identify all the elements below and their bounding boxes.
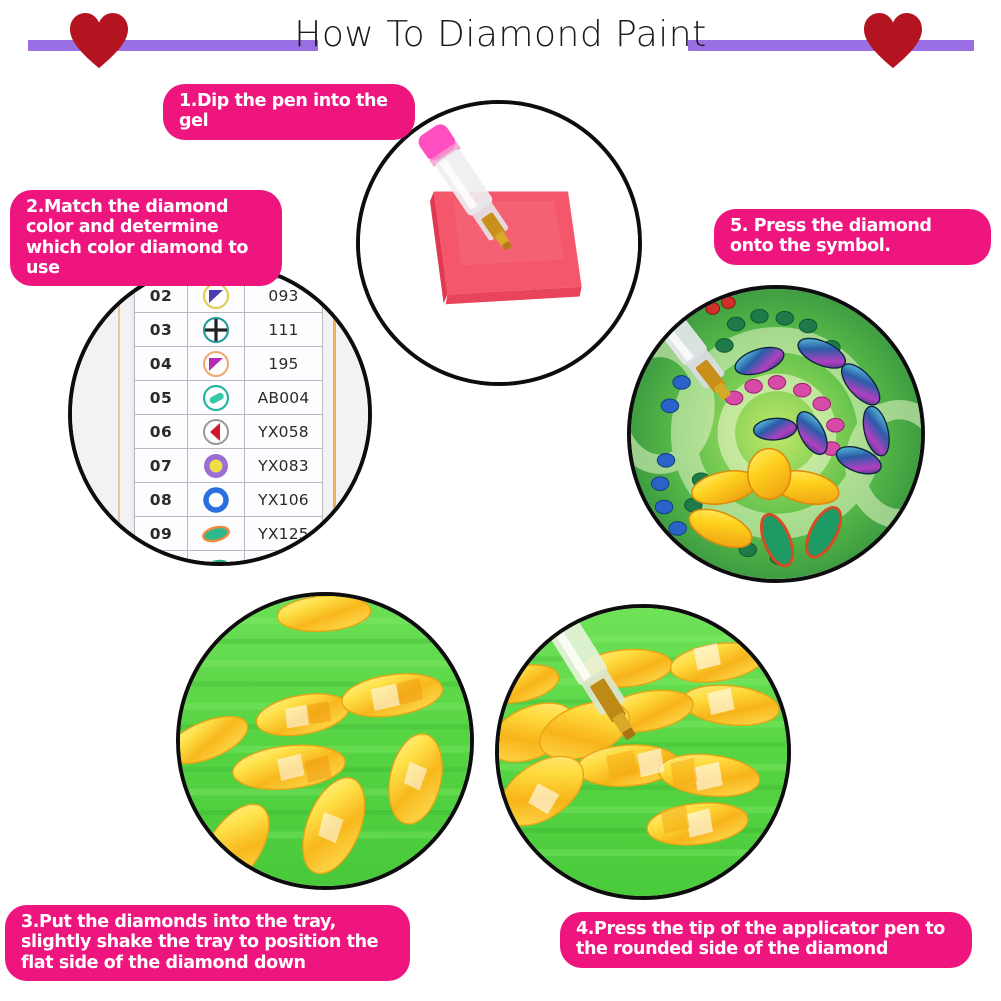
color-code-number: 08	[135, 483, 188, 517]
header: How To Diamond Paint	[0, 0, 1001, 78]
infographic-page: How To Diamond Paint 1.Dip the pen into …	[0, 0, 1001, 1001]
color-code-value: AB004	[245, 381, 323, 415]
color-code-row: 06YX058	[135, 415, 323, 449]
step-label-2: 2.Match the diamond color and determine …	[10, 190, 282, 286]
page-title: How To Diamond Paint	[0, 14, 1001, 55]
color-code-value: YX125	[245, 517, 323, 551]
step-label-1: 1.Dip the pen into the gel	[163, 84, 415, 140]
color-code-value: YX106	[245, 483, 323, 517]
color-code-row: 03111	[135, 313, 323, 347]
color-code-table: 0102802093031110419505AB00406YX05807YX08…	[134, 262, 323, 566]
photo-pen-dipping-into-gel	[356, 100, 642, 386]
step-label-4: 4.Press the tip of the applicator pen to…	[560, 912, 972, 968]
capsule-slash-icon	[188, 381, 245, 415]
step-label-5: 5. Press the diamond onto the symbol.	[714, 209, 991, 265]
leaf-filled-icon	[188, 517, 245, 551]
chart-paper: 0102802093031110419505AB00406YX05807YX08…	[134, 262, 319, 566]
color-code-number: 10	[135, 551, 188, 567]
color-code-number: 03	[135, 313, 188, 347]
color-code-row: 08YX106	[135, 483, 323, 517]
color-code-number: 09	[135, 517, 188, 551]
photo-color-code-chart: 0102802093031110419505AB00406YX05807YX08…	[68, 262, 372, 566]
color-code-number: 05	[135, 381, 188, 415]
color-code-value: YX058	[245, 415, 323, 449]
photo-pressing-diamond-onto-canvas	[627, 285, 925, 583]
color-code-value	[245, 551, 323, 567]
color-code-row: 10	[135, 551, 323, 567]
color-code-value: 111	[245, 313, 323, 347]
photo-pen-picking-diamond	[495, 604, 791, 900]
color-code-row: 05AB004	[135, 381, 323, 415]
color-code-row: 04195	[135, 347, 323, 381]
color-code-value: 195	[245, 347, 323, 381]
triangle-filled-icon	[188, 347, 245, 381]
color-code-row: 07YX083	[135, 449, 323, 483]
color-code-row: 09YX125	[135, 517, 323, 551]
plus-cross-icon	[188, 313, 245, 347]
chart-margin-line	[118, 266, 120, 562]
color-code-number: 06	[135, 415, 188, 449]
color-code-number: 07	[135, 449, 188, 483]
step-label-3: 3.Put the diamonds into the tray, slight…	[5, 905, 410, 981]
ring-open-icon	[188, 483, 245, 517]
photo-diamonds-in-tray	[176, 592, 474, 890]
leaf-filled-icon	[188, 551, 245, 567]
donut-filled-icon	[188, 449, 245, 483]
chevron-left-icon	[188, 415, 245, 449]
color-code-value: YX083	[245, 449, 323, 483]
color-code-number: 04	[135, 347, 188, 381]
